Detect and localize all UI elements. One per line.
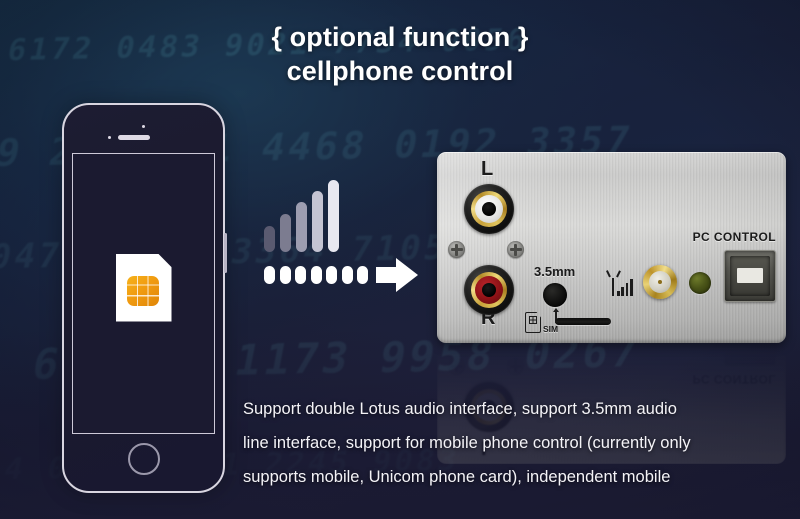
signal-bar — [312, 191, 323, 252]
signal-bar — [264, 226, 275, 252]
phone-sensor-icon — [108, 136, 111, 139]
flow-dot — [295, 266, 306, 284]
reflected-screw — [448, 358, 465, 375]
sim-card-icon — [116, 254, 172, 322]
phone-side-button — [224, 233, 227, 273]
title-block: { optional function } cellphone control — [0, 20, 800, 88]
flow-dot — [264, 266, 275, 284]
flow-dot — [357, 266, 368, 284]
description-line-2: line interface, support for mobile phone… — [243, 426, 794, 460]
phone-screen — [72, 153, 215, 434]
phone-illustration — [62, 103, 225, 493]
reflected-label-pc-control: PC CONTROL — [693, 372, 776, 386]
usb-type-b-port[interactable] — [724, 250, 776, 302]
arrow-shaft — [376, 267, 398, 283]
sim-card-slot[interactable] — [555, 318, 611, 325]
rca-jack-right[interactable] — [464, 265, 514, 315]
sim-chip-contacts — [127, 276, 159, 306]
sma-antenna-connector[interactable] — [643, 265, 677, 299]
title-line-cellphone-control: cellphone control — [0, 54, 800, 88]
arrow-right-icon — [376, 258, 418, 292]
flow-dot — [280, 266, 291, 284]
label-sim-slot: SIM — [543, 324, 558, 334]
rca-center-hole — [482, 202, 496, 216]
antenna-arm — [616, 270, 621, 277]
device-panel: L R 3.5mm PC CONTROL SIM — [437, 152, 786, 343]
screw-icon — [507, 241, 524, 258]
signal-bar — [328, 180, 339, 252]
signal-bar — [280, 214, 291, 252]
panel-face: L R 3.5mm PC CONTROL SIM — [437, 152, 786, 343]
reflected-sma-connector — [643, 346, 677, 351]
flow-dots-and-arrow — [264, 258, 418, 292]
antenna-arm — [606, 270, 611, 277]
reflected-rca-right — [464, 346, 514, 351]
flow-dot — [326, 266, 337, 284]
usb-port-inner — [730, 256, 770, 296]
signal-bar — [296, 202, 307, 252]
title-line-optional-function: { optional function } — [0, 20, 800, 54]
status-led — [689, 272, 711, 294]
rca-center-hole — [482, 283, 496, 297]
rca-jack-left[interactable] — [464, 184, 514, 234]
reflected-screw — [507, 358, 524, 375]
flow-dot — [311, 266, 322, 284]
phone-earpiece-speaker — [118, 135, 150, 140]
aux-35mm-jack[interactable] — [543, 283, 567, 307]
phone-camera-icon — [142, 125, 145, 128]
sim-icon-contacts — [529, 316, 537, 324]
label-rca-left: L — [481, 158, 493, 181]
description-line-3: supports mobile, Unicom phone card), ind… — [243, 460, 794, 494]
label-pc-control: PC CONTROL — [693, 230, 776, 244]
screw-icon — [448, 241, 465, 258]
promo-image-scene: 6172 0483 9021 7734 0056 89 23 7701 4468… — [0, 0, 800, 519]
flow-dot — [342, 266, 353, 284]
sim-card-slot-icon — [525, 312, 541, 333]
reflected-label-35mm: 3.5mm — [534, 346, 575, 352]
arrow-head — [396, 258, 418, 292]
description-line-1: Support double Lotus audio interface, su… — [243, 392, 794, 426]
description-block: Support double Lotus audio interface, su… — [243, 392, 794, 494]
label-aux-jack: 3.5mm — [534, 264, 575, 279]
antenna-stem — [612, 278, 614, 296]
signal-strength-icon — [264, 180, 342, 252]
antenna-bars — [617, 279, 633, 296]
phone-home-button — [128, 443, 160, 475]
signal-flow-graphic — [264, 180, 342, 252]
usb-port-tongue — [737, 268, 763, 283]
antenna-signal-icon — [609, 270, 639, 296]
reflected-usb-port — [724, 346, 776, 366]
